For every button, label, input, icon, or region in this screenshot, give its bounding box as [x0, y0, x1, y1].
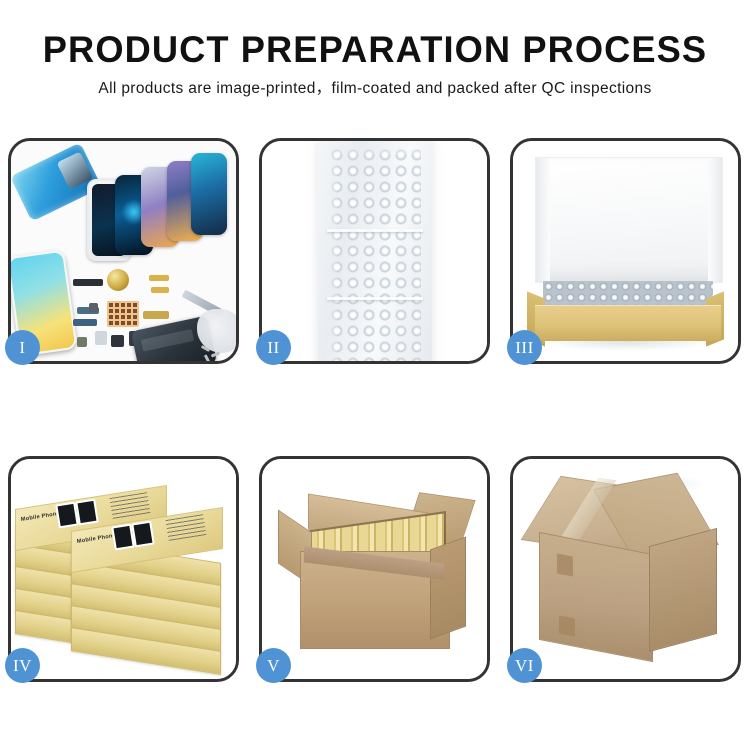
step-3-image: [513, 141, 738, 361]
step-panel-5: V: [259, 456, 490, 682]
step-1-image: [11, 141, 236, 361]
step-5-image: [262, 459, 487, 679]
step-badge-5: V: [256, 648, 291, 683]
flex-cable-part-4: [73, 319, 97, 326]
step-badge-2: II: [256, 330, 291, 365]
step-panel-4: Mobile Phone Spare Parts Mobile Phone Sp…: [8, 456, 239, 682]
small-part-1: [95, 331, 107, 345]
step-panel-6: VI: [510, 456, 741, 682]
chip-grid-part-icon: [107, 301, 139, 327]
phone-screen-5: [191, 153, 227, 235]
sealed-carton-front-face: [539, 532, 653, 662]
wrap-seam-2: [327, 297, 423, 300]
flex-cable-part-2: [151, 287, 169, 293]
carton-side-face: [430, 536, 466, 639]
mailer-bubble-wrap-contents: [543, 281, 713, 307]
carton-handle-cutout-1: [557, 553, 573, 576]
wrap-seam-1: [327, 229, 423, 232]
flex-cable-part-5: [143, 311, 169, 319]
mailer-white-lid: [535, 157, 723, 283]
step-badge-4: IV: [5, 648, 40, 683]
bubble-pattern-back: [337, 155, 421, 361]
step-panel-2: II: [259, 138, 490, 364]
retail-box-stack: Mobile Phone Spare Parts Mobile Phone Sp…: [15, 473, 235, 673]
step-4-image: Mobile Phone Spare Parts Mobile Phone Sp…: [11, 459, 236, 679]
small-part-5: [89, 303, 98, 312]
page-subtitle: All products are image-printed，film-coat…: [0, 78, 750, 100]
page-title: PRODUCT PREPARATION PROCESS: [8, 28, 743, 72]
header: PRODUCT PREPARATION PROCESS All products…: [0, 28, 750, 100]
step-panel-3: III: [510, 138, 741, 364]
step-panel-1: I: [8, 138, 239, 364]
sealed-carton-right-face: [649, 528, 717, 652]
step-badge-6: VI: [507, 648, 542, 683]
small-part-4: [77, 337, 87, 347]
mailer-kraft-front: [535, 305, 721, 341]
step-badge-3: III: [507, 330, 542, 365]
steps-grid: I II III: [8, 138, 742, 682]
earpiece-speaker-part-icon: [73, 279, 103, 286]
product-preparation-infographic: PRODUCT PREPARATION PROCESS All products…: [0, 0, 750, 750]
copper-coil-part-icon: [107, 269, 129, 291]
flex-cable-part-1: [149, 275, 169, 281]
step-2-image: [262, 141, 487, 361]
retail-box-screen-image-2: [75, 499, 99, 526]
step-badge-1: I: [5, 330, 40, 365]
small-part-2: [111, 335, 124, 347]
carton-handle-cutout-2: [559, 615, 575, 636]
retail-box-screen-image-4: [131, 521, 155, 548]
mailer-shadow: [539, 341, 717, 351]
step-6-image: [513, 459, 738, 679]
